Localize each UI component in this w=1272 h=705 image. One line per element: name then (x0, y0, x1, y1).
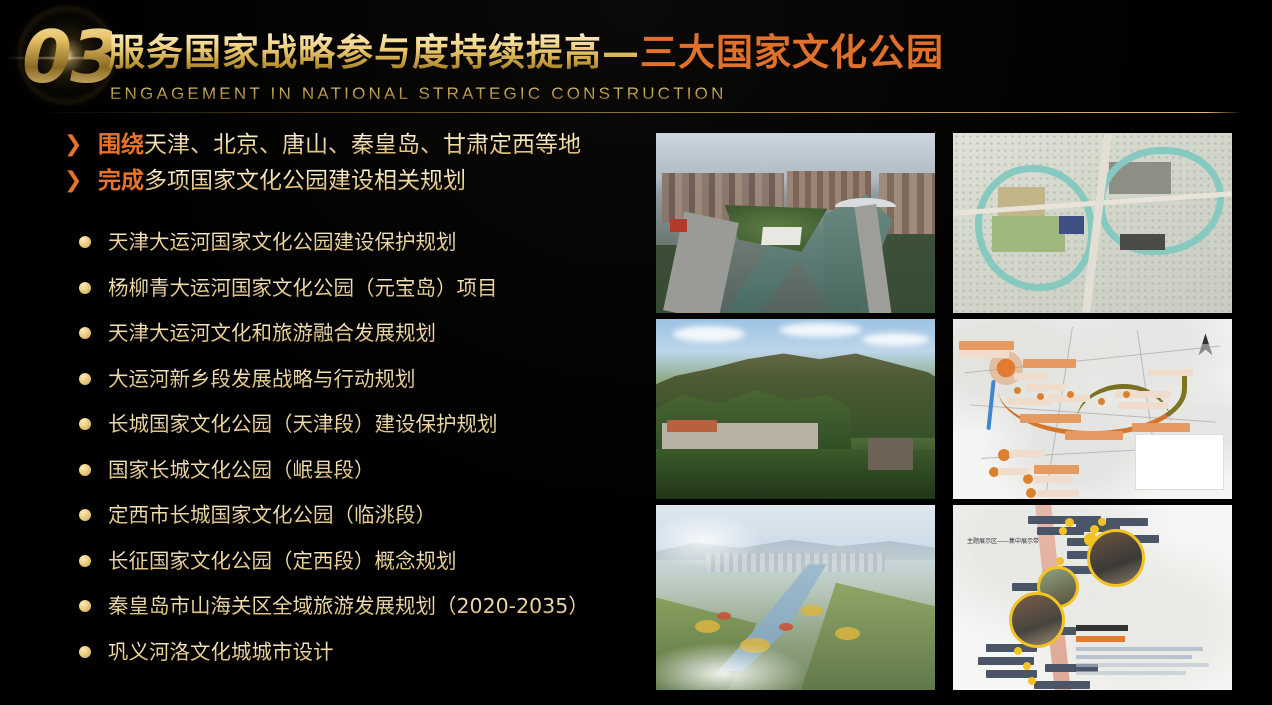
page-title-main: 服务国家战略参与度持续提高— (108, 30, 640, 74)
gallery-image-aerial-city-river-photo (656, 133, 935, 313)
highlight-text: 天津、北京、唐山、秦皇岛、甘肃定西等地 (144, 132, 581, 158)
list-item-label: 天津大运河国家文化公园建设保护规划 (108, 223, 457, 261)
list-item: 大运河新乡段发展战略与行动规划 (0, 361, 650, 407)
bullet-dot-icon (79, 236, 91, 248)
list-item: 国家长城文化公园（岷县段） (0, 452, 650, 498)
bullet-dot-icon (79, 509, 91, 521)
section-number: 03 (22, 14, 112, 100)
chevron-right-icon: ❯ (64, 170, 86, 192)
content-left-column: ❯ 围绕天津、北京、唐山、秦皇岛、甘肃定西等地 ❯ 完成多项国家文化公园建设相关… (0, 128, 650, 698)
bullet-dot-icon (79, 282, 91, 294)
list-item: 天津大运河文化和旅游融合发展规划 (0, 315, 650, 361)
gallery-image-river-valley-rendering (656, 505, 935, 690)
bullet-dot-icon (79, 418, 91, 430)
list-item: 杨柳青大运河国家文化公园（元宝岛）项目 (0, 270, 650, 316)
highlight-row: ❯ 完成多项国家文化公园建设相关规划 (0, 164, 650, 200)
image-gallery: 主题展示区——集中展示带 (656, 133, 1232, 696)
list-item-label: 杨柳青大运河国家文化公园（元宝岛）项目 (108, 269, 498, 307)
bullet-dot-icon (79, 464, 91, 476)
slide-header: 03 服务国家战略参与度持续提高—三大国家文化公园 ENGAGEMENT IN … (0, 0, 1272, 120)
list-item-label: 秦皇岛市山海关区全域旅游发展规划（2020-2035） (108, 587, 589, 625)
project-list: 天津大运河国家文化公园建设保护规划 杨柳青大运河国家文化公园（元宝岛）项目 天津… (0, 224, 650, 679)
list-item-label: 国家长城文化公园（岷县段） (108, 451, 375, 489)
gallery-image-route-planning-map (953, 319, 1232, 499)
bullet-dot-icon (79, 600, 91, 612)
slide-root: 03 服务国家战略参与度持续提高—三大国家文化公园 ENGAGEMENT IN … (0, 0, 1272, 705)
list-item-label: 巩义河洛文化城城市设计 (108, 633, 334, 671)
list-item: 定西市长城国家文化公园（临洮段） (0, 497, 650, 543)
page-title: 服务国家战略参与度持续提高—三大国家文化公园 (108, 30, 944, 74)
gallery-image-great-wall-mountain-photo (656, 319, 935, 499)
list-item-label: 定西市长城国家文化公园（临洮段） (108, 496, 436, 534)
gallery-image-masterplan-rendering (953, 133, 1232, 313)
list-item-label: 长征国家文化公园（定西段）概念规划 (108, 542, 457, 580)
list-item: 巩义河洛文化城城市设计 (0, 634, 650, 680)
list-item: 长城国家文化公园（天津段）建设保护规划 (0, 406, 650, 452)
list-item-label: 天津大运河文化和旅游融合发展规划 (108, 314, 436, 352)
list-item: 天津大运河国家文化公园建设保护规划 (0, 224, 650, 270)
bullet-dot-icon (79, 555, 91, 567)
highlight-text: 多项国家文化公园建设相关规划 (144, 168, 466, 194)
list-item-label: 长城国家文化公园（天津段）建设保护规划 (108, 405, 498, 443)
gallery-image-trail-node-diagram: 主题展示区——集中展示带 (953, 505, 1232, 690)
highlight-keyword: 围绕 (98, 132, 144, 158)
chevron-right-icon: ❯ (64, 134, 86, 156)
highlight-row: ❯ 围绕天津、北京、唐山、秦皇岛、甘肃定西等地 (0, 128, 650, 164)
list-item: 长征国家文化公园（定西段）概念规划 (0, 543, 650, 589)
bullet-dot-icon (79, 373, 91, 385)
header-divider (26, 112, 1242, 113)
list-item: 秦皇岛市山海关区全域旅游发展规划（2020-2035） (0, 588, 650, 634)
list-item-label: 大运河新乡段发展战略与行动规划 (108, 360, 416, 398)
highlight-keyword: 完成 (98, 168, 144, 194)
bullet-dot-icon (79, 327, 91, 339)
bullet-dot-icon (79, 646, 91, 658)
page-subtitle-en: ENGAGEMENT IN NATIONAL STRATEGIC CONSTRU… (110, 84, 727, 104)
page-title-accent: 三大国家文化公园 (640, 30, 944, 74)
